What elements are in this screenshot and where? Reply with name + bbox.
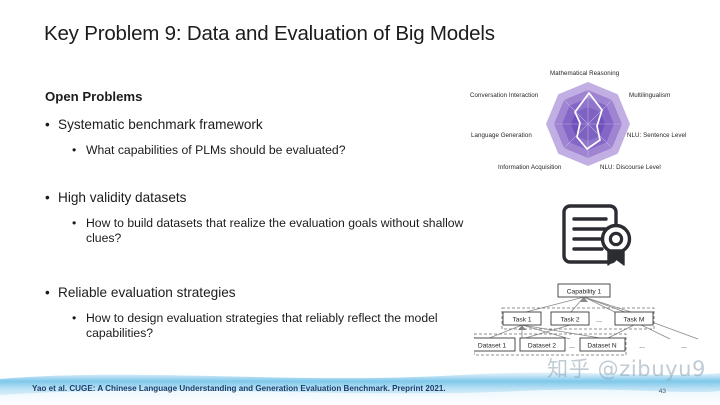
tree-task-2-label: Task 2 bbox=[560, 316, 579, 323]
radar-label-conversation-interaction: Conversation Interaction bbox=[470, 92, 538, 99]
zhihu-watermark: 知乎 @zibuyu9 bbox=[547, 353, 706, 383]
bullet-level1-2: •High validity datasets bbox=[45, 190, 186, 205]
tree-trailing-ellipsis-1: ... bbox=[639, 343, 645, 350]
certificate-document-icon bbox=[558, 198, 640, 270]
tree-task-1-label: Task 1 bbox=[512, 316, 531, 323]
bullet-level2-1-text: What capabilities of PLMs should be eval… bbox=[86, 143, 482, 158]
bullet-glyph-icon: • bbox=[45, 190, 58, 205]
bullet-level2-1: • What capabilities of PLMs should be ev… bbox=[72, 143, 482, 158]
bullet-level2-3-text: How to design evaluation strategies that… bbox=[86, 311, 482, 341]
radar-label-nlu-discourse-level: NLU: Discourse Level bbox=[600, 164, 661, 171]
sub-bullet-glyph-icon: • bbox=[72, 143, 84, 158]
radar-label-mathematical-reasoning: Mathematical Reasoning bbox=[550, 70, 619, 77]
tree-task-m-label: Task M bbox=[624, 316, 645, 323]
sub-bullet-glyph-icon: • bbox=[72, 311, 84, 326]
bullet-level1-1-text: Systematic benchmark framework bbox=[58, 117, 263, 132]
tree-root-label: Capability 1 bbox=[567, 288, 602, 295]
bullet-level2-2-text: How to build datasets that realize the e… bbox=[86, 216, 482, 246]
bullet-level1-2-text: High validity datasets bbox=[58, 190, 186, 205]
tree-task-ellipsis: ... bbox=[596, 317, 602, 324]
slide-canvas: Key Problem 9: Data and Evaluation of Bi… bbox=[0, 0, 720, 405]
sub-bullet-glyph-icon: • bbox=[72, 216, 84, 231]
radar-label-language-generation: Language Generation bbox=[471, 132, 532, 139]
bullet-level1-3-text: Reliable evaluation strategies bbox=[58, 285, 236, 300]
bullet-glyph-icon: • bbox=[45, 117, 58, 132]
radar-label-nlu-sentence-level: NLU: Sentence Level bbox=[627, 132, 686, 139]
page-title: Key Problem 9: Data and Evaluation of Bi… bbox=[44, 22, 495, 46]
tree-dataset-2-label: Dataset 2 bbox=[528, 342, 557, 349]
radar-label-information-acquisition: Information Acquisition bbox=[498, 164, 561, 171]
page-number: 43 bbox=[659, 388, 666, 395]
bullet-level1-1: •Systematic benchmark framework bbox=[45, 117, 263, 132]
tree-dataset-n-label: Dataset N bbox=[587, 342, 617, 349]
citation-text: Yao et al. CUGE: A Chinese Language Unde… bbox=[32, 384, 446, 393]
tree-dataset-ellipsis: ... bbox=[569, 343, 575, 350]
bullet-glyph-icon: • bbox=[45, 285, 58, 300]
bullet-level1-3: •Reliable evaluation strategies bbox=[45, 285, 236, 300]
section-heading: Open Problems bbox=[45, 89, 142, 104]
tree-dataset-1-label: Dataset 1 bbox=[478, 342, 507, 349]
radar-label-multilingualism: Multilingualism bbox=[629, 92, 670, 99]
tree-trailing-ellipsis-2: ... bbox=[681, 343, 687, 350]
bullet-level2-2: • How to build datasets that realize the… bbox=[72, 216, 482, 246]
radar-chart-icon bbox=[544, 80, 632, 168]
bullet-level2-3: • How to design evaluation strategies th… bbox=[72, 311, 482, 341]
capability-radar-figure: Mathematical Reasoning Conversation Inte… bbox=[462, 66, 714, 182]
